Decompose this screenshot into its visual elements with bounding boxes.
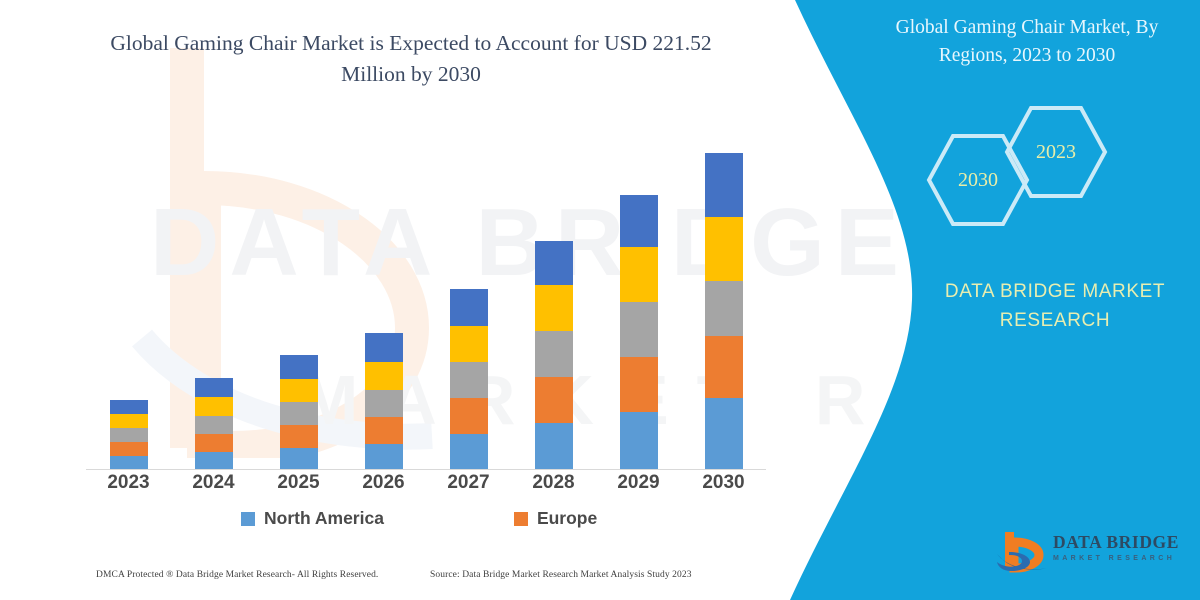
brand-line2: RESEARCH (905, 307, 1200, 336)
table-row[interactable] (535, 241, 573, 469)
segment-series5 (535, 241, 573, 285)
brand-name: DATA BRIDGE MARKET RESEARCH (905, 278, 1200, 335)
x-tick-label: 2030 (681, 472, 766, 494)
brand-line1: DATA BRIDGE MARKET (905, 278, 1200, 307)
segment-series3 (195, 416, 233, 434)
table-row[interactable] (280, 355, 318, 469)
dmca-notice: DMCA Protected ® Data Bridge Market Rese… (96, 570, 378, 580)
bar-slot (511, 140, 596, 469)
segment-series3 (620, 302, 658, 357)
segment-series3 (280, 402, 318, 425)
bar-slot (596, 140, 681, 469)
segment-series3 (450, 362, 488, 398)
stacked-bar-chart (86, 140, 766, 470)
bars-container (86, 140, 766, 469)
segment-series4 (110, 414, 148, 428)
x-axis-labels: 2023 2024 2025 2026 2027 2028 2029 2030 (86, 472, 766, 494)
table-row[interactable] (450, 289, 488, 469)
bar-slot (681, 140, 766, 469)
x-tick-label: 2026 (341, 472, 426, 494)
bar-slot (426, 140, 511, 469)
data-bridge-b-icon (995, 528, 1049, 574)
logo-subtitle: MARKET RESEARCH (1053, 555, 1179, 562)
segment-series5 (280, 355, 318, 379)
hex-badge-2030[interactable]: 2030 (925, 132, 1031, 228)
page-title: Global Gaming Chair Market is Expected t… (86, 28, 736, 89)
x-tick-label: 2025 (256, 472, 341, 494)
segment-series4 (450, 326, 488, 362)
segment-europe (365, 417, 403, 444)
bar-slot (171, 140, 256, 469)
right-panel-title: Global Gaming Chair Market, By Regions, … (862, 14, 1192, 71)
segment-north-america (110, 456, 148, 469)
segment-series5 (365, 333, 403, 362)
segment-north-america (705, 398, 743, 469)
segment-series3 (110, 428, 148, 442)
x-tick-label: 2023 (86, 472, 171, 494)
segment-europe (620, 357, 658, 412)
logo-text: DATA BRIDGE MARKET RESEARCH (1053, 532, 1179, 562)
segment-north-america (450, 434, 488, 469)
segment-series5 (450, 289, 488, 326)
segment-series3 (365, 390, 403, 417)
legend-swatch-icon (514, 512, 528, 526)
table-row[interactable] (705, 153, 743, 469)
legend-label: North America (264, 508, 384, 529)
segment-series5 (705, 153, 743, 217)
segment-north-america (535, 423, 573, 469)
segment-series3 (705, 281, 743, 336)
segment-europe (110, 442, 148, 456)
segment-north-america (280, 448, 318, 469)
bar-slot (341, 140, 426, 469)
source-note: Source: Data Bridge Market Research Mark… (430, 570, 692, 580)
logo-name: DATA BRIDGE (1053, 532, 1179, 553)
segment-series3 (535, 331, 573, 377)
segment-series4 (195, 397, 233, 416)
segment-north-america (620, 412, 658, 469)
legend-item-europe[interactable]: Europe (514, 508, 597, 529)
segment-europe (450, 398, 488, 434)
segment-europe (195, 434, 233, 452)
table-row[interactable] (195, 378, 233, 469)
segment-series4 (280, 379, 318, 402)
segment-europe (535, 377, 573, 423)
x-tick-label: 2027 (426, 472, 511, 494)
x-tick-label: 2029 (596, 472, 681, 494)
segment-north-america (365, 444, 403, 469)
segment-series5 (620, 195, 658, 247)
segment-series5 (110, 400, 148, 414)
x-axis-line (86, 469, 766, 470)
footer: DMCA Protected ® Data Bridge Market Rese… (0, 566, 800, 600)
infographic-root: DATA BRIDGE MARKET RESEARCH Global Gamin… (0, 0, 1200, 600)
table-row[interactable] (365, 333, 403, 469)
segment-series5 (195, 378, 233, 397)
chart-legend: North America Europe (86, 508, 766, 529)
segment-series4 (705, 217, 743, 281)
legend-swatch-icon (241, 512, 255, 526)
bar-slot (86, 140, 171, 469)
hex-label: 2030 (925, 132, 1031, 228)
segment-europe (280, 425, 318, 448)
x-tick-label: 2024 (171, 472, 256, 494)
segment-series4 (535, 285, 573, 331)
segment-europe (705, 336, 743, 398)
bar-slot (256, 140, 341, 469)
table-row[interactable] (620, 195, 658, 469)
table-row[interactable] (110, 400, 148, 469)
segment-series4 (365, 362, 403, 390)
segment-series4 (620, 247, 658, 302)
x-tick-label: 2028 (511, 472, 596, 494)
legend-item-north-america[interactable]: North America (241, 508, 384, 529)
segment-north-america (195, 452, 233, 469)
legend-label: Europe (537, 508, 597, 529)
plot-area (86, 140, 766, 470)
hexagon-badges: 2023 2030 (925, 104, 1125, 224)
company-logo[interactable]: DATA BRIDGE MARKET RESEARCH (995, 528, 1185, 574)
